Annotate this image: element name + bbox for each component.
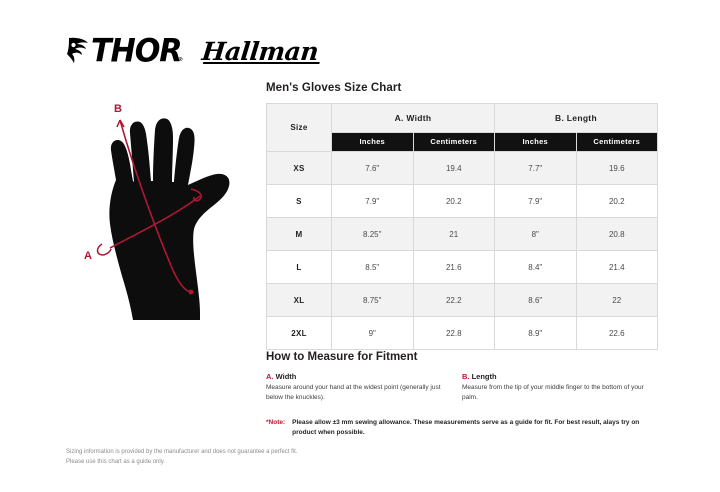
- thor-logo: THOR ®: [66, 36, 182, 66]
- how-to-measure-title: How to Measure for Fitment: [266, 351, 658, 363]
- measure-width-heading: A. Width: [266, 372, 452, 381]
- glove-silhouette-icon: B A: [72, 96, 262, 328]
- measure-width-column: A. Width Measure around your hand at the…: [266, 372, 462, 403]
- footer-line-1: Sizing information is provided by the ma…: [66, 447, 396, 457]
- measure-length-letter: B.: [462, 372, 470, 381]
- cell-length-inches: 8.4": [495, 251, 577, 284]
- table-row: M 8.25" 21 8" 20.8: [267, 218, 658, 251]
- thor-wordmark: THOR: [91, 35, 181, 67]
- size-table: Size A. Width B. Length Inches Centimete…: [266, 103, 658, 350]
- column-header-length-centimeters: Centimeters: [576, 132, 658, 151]
- measure-length-column: B. Length Measure from the tip of your m…: [462, 372, 658, 403]
- cell-length-centimeters: 22: [576, 284, 658, 317]
- cell-length-centimeters: 22.6: [576, 317, 658, 350]
- cell-width-inches: 8.5": [332, 251, 414, 284]
- table-row: XS 7.6" 19.4 7.7" 19.6: [267, 152, 658, 185]
- table-header-row-groups: Size A. Width B. Length: [267, 104, 658, 133]
- how-to-measure-section: How to Measure for Fitment A. Width Meas…: [266, 351, 658, 403]
- glove-label-b: B: [114, 103, 122, 115]
- cell-length-centimeters: 19.6: [576, 152, 658, 185]
- cell-width-centimeters: 22.2: [413, 284, 495, 317]
- note-label: *Note:: [266, 418, 285, 438]
- cell-size: XL: [267, 284, 332, 317]
- cell-length-inches: 8.6": [495, 284, 577, 317]
- cell-width-inches: 7.9": [332, 185, 414, 218]
- table-body: XS 7.6" 19.4 7.7" 19.6 S 7.9" 20.2 7.9" …: [267, 152, 658, 350]
- measure-length-heading: B. Length: [462, 372, 648, 381]
- cell-width-centimeters: 20.2: [413, 185, 495, 218]
- size-chart-page: THOR ® Hallman B A: [0, 0, 720, 492]
- measure-width-letter: A.: [266, 372, 274, 381]
- note-text: Please allow ±3 mm sewing allowance. The…: [292, 418, 658, 438]
- cell-length-centimeters: 21.4: [576, 251, 658, 284]
- hallman-wordmark: Hallman: [201, 39, 320, 64]
- chart-title: Men's Gloves Size Chart: [266, 82, 658, 94]
- cell-length-centimeters: 20.2: [576, 185, 658, 218]
- cell-size: M: [267, 218, 332, 251]
- cell-width-centimeters: 19.4: [413, 152, 495, 185]
- footer-line-2: Please use this chart as a guide only.: [66, 457, 396, 467]
- measure-length-name: Length: [472, 372, 497, 381]
- table-row: XL 8.75" 22.2 8.6" 22: [267, 284, 658, 317]
- size-chart-panel: Men's Gloves Size Chart Size A. Width B.…: [266, 82, 658, 350]
- table-row: S 7.9" 20.2 7.9" 20.2: [267, 185, 658, 218]
- cell-length-inches: 8": [495, 218, 577, 251]
- column-header-width-group: A. Width: [332, 104, 495, 133]
- column-header-size: Size: [267, 104, 332, 152]
- cell-length-inches: 7.9": [495, 185, 577, 218]
- table-header: Size A. Width B. Length Inches Centimete…: [267, 104, 658, 152]
- column-header-width-inches: Inches: [332, 132, 414, 151]
- measure-width-text: Measure around your hand at the widest p…: [266, 383, 452, 403]
- cell-width-centimeters: 21.6: [413, 251, 495, 284]
- note-row: *Note: Please allow ±3 mm sewing allowan…: [266, 418, 658, 438]
- cell-width-inches: 8.75": [332, 284, 414, 317]
- cell-width-inches: 8.25": [332, 218, 414, 251]
- footer-disclaimer: Sizing information is provided by the ma…: [66, 447, 396, 467]
- how-to-measure-columns: A. Width Measure around your hand at the…: [266, 372, 658, 403]
- measure-length-text: Measure from the tip of your middle fing…: [462, 383, 648, 403]
- cell-size: S: [267, 185, 332, 218]
- glove-label-a: A: [84, 250, 92, 262]
- table-row: 2XL 9" 22.8 8.9" 22.6: [267, 317, 658, 350]
- cell-length-inches: 8.9": [495, 317, 577, 350]
- cell-width-centimeters: 22.8: [413, 317, 495, 350]
- cell-size: L: [267, 251, 332, 284]
- measure-width-name: Width: [276, 372, 297, 381]
- column-header-length-group: B. Length: [495, 104, 658, 133]
- cell-width-inches: 9": [332, 317, 414, 350]
- column-header-length-inches: Inches: [495, 132, 577, 151]
- brand-logos: THOR ® Hallman: [66, 33, 319, 69]
- cell-width-centimeters: 21: [413, 218, 495, 251]
- glove-diagram: B A: [72, 96, 262, 328]
- cell-length-centimeters: 20.8: [576, 218, 658, 251]
- thor-helmet-icon: [66, 36, 90, 66]
- cell-width-inches: 7.6": [332, 152, 414, 185]
- table-row: L 8.5" 21.6 8.4" 21.4: [267, 251, 658, 284]
- cell-size: XS: [267, 152, 332, 185]
- cell-size: 2XL: [267, 317, 332, 350]
- cell-length-inches: 7.7": [495, 152, 577, 185]
- column-header-width-centimeters: Centimeters: [413, 132, 495, 151]
